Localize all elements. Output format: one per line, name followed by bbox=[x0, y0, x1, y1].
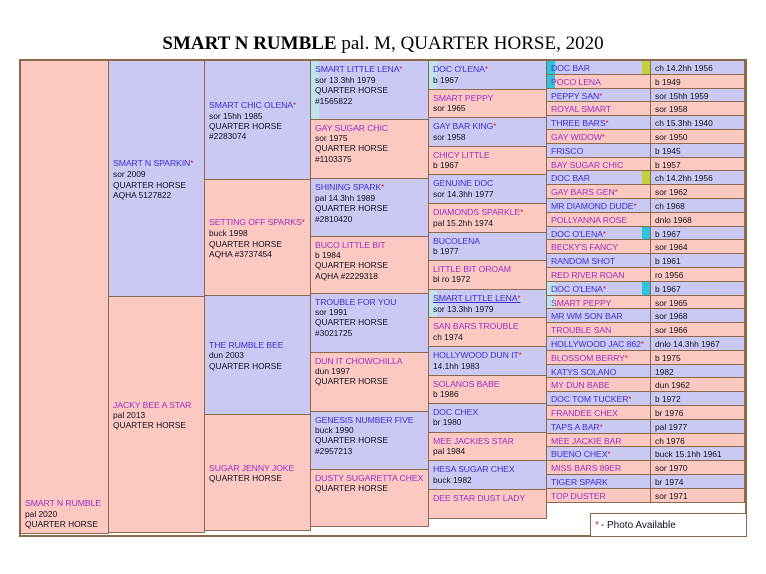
pedigree-cell: MR DIAMOND DUDE* bbox=[546, 198, 651, 213]
pedigree-cell: RED RIVER ROAN bbox=[546, 267, 651, 282]
cell-content: SMART CHIC OLENA*sor 15hh 1985QUARTER HO… bbox=[209, 100, 308, 142]
pedigree-cell-subject: SMART N RUMBLEpal 2020QUARTER HORSE bbox=[20, 60, 109, 534]
cell-content: BECKY'S FANCY bbox=[551, 241, 648, 253]
pedigree-cell: TAPS A BAR* bbox=[546, 419, 651, 434]
pedigree-date-cell: ch 1976 bbox=[650, 433, 745, 448]
generation-6-column: DOC BARPOCO LENAPEPPY SAN*ROYAL SMARTTHR… bbox=[547, 61, 651, 535]
horse-name: ROYAL SMART bbox=[551, 103, 648, 115]
pedigree-date-cell: b 1961 bbox=[650, 253, 745, 268]
horse-name: TOP DUSTER bbox=[551, 490, 648, 502]
horse-name: DUN IT CHOWCHILLA bbox=[315, 356, 426, 366]
cell-content: DOC CHEXbr 1980 bbox=[433, 407, 544, 427]
horse-birth-detail: buck 15.1hh 1961 bbox=[655, 448, 742, 460]
pedigree-date-cell: ch 14.2hh 1956 bbox=[650, 170, 745, 185]
horse-name: BECKY'S FANCY bbox=[551, 241, 648, 253]
horse-name: HESA SUGAR CHEX bbox=[433, 464, 544, 474]
pedigree-date-cell: ch 15.3hh 1940 bbox=[650, 115, 745, 130]
pedigree-cell: GAY WIDOW* bbox=[546, 129, 651, 144]
photo-available-star-icon: * bbox=[625, 354, 628, 363]
pedigree-cell: TROUBLE SAN bbox=[546, 322, 651, 337]
horse-birth-detail: ro 1956 bbox=[655, 269, 742, 281]
pedigree-date-cell: ro 1956 bbox=[650, 267, 745, 282]
horse-detail: AQHA #3737454 bbox=[209, 249, 308, 259]
horse-detail: QUARTER HORSE bbox=[315, 483, 426, 493]
cell-content: MEE JACKIE BAR bbox=[551, 435, 648, 447]
cell-content: HOLLYWOOD DUN IT*14.1hh 1983 bbox=[433, 350, 544, 371]
horse-birth-detail: sor 1964 bbox=[655, 241, 742, 253]
pedigree-cell: GAY BAR KING*sor 1958 bbox=[428, 117, 547, 147]
pedigree-cell: BLOSSOM BERRY* bbox=[546, 350, 651, 365]
horse-birth-detail: b 1949 bbox=[655, 76, 742, 88]
horse-name: SOLANOS BABE bbox=[433, 379, 544, 389]
cell-content: SAN BARS TROUBLEch 1974 bbox=[433, 321, 544, 341]
horse-name: GAY BAR KING* bbox=[433, 121, 544, 132]
horse-name: SMART CHIC OLENA* bbox=[209, 100, 308, 111]
horse-name: TROUBLE SAN bbox=[551, 324, 648, 336]
pedigree-date-cell: b 1967 bbox=[650, 226, 745, 241]
cell-content: DOC O'LENA*b 1967 bbox=[433, 64, 544, 85]
horse-name: DOC O'LENA* bbox=[433, 64, 544, 75]
cell-content: BUCO LITTLE BITb 1984QUARTER HORSEAQHA #… bbox=[315, 240, 426, 281]
photo-available-star-icon: * bbox=[633, 202, 636, 211]
horse-name: MISS BARS 89ER bbox=[551, 462, 648, 474]
horse-detail: 14.1hh 1983 bbox=[433, 361, 544, 371]
pedigree-cell: SMART N SPARKIN*sor 2009QUARTER HORSEAQH… bbox=[108, 60, 205, 297]
pedigree-cell: GENUINE DOCsor 14.3hh 1977 bbox=[428, 174, 547, 204]
pedigree-cell: GENESIS NUMBER FIVEbuck 1990QUARTER HORS… bbox=[310, 411, 429, 470]
pedigree-date-cell: sor 1968 bbox=[650, 308, 745, 323]
cell-content: DUN IT CHOWCHILLAdun 1997QUARTER HORSE bbox=[315, 356, 426, 387]
page-title: SMART N RUMBLE pal. M, QUARTER HORSE, 20… bbox=[0, 33, 766, 55]
horse-birth-detail: b 1957 bbox=[655, 159, 742, 171]
pedigree-date-cell: sor 1971 bbox=[650, 488, 745, 503]
horse-name[interactable]: SMART LITTLE LENA* bbox=[433, 293, 544, 304]
horse-detail: AQHA 5127822 bbox=[113, 190, 202, 200]
horse-detail: QUARTER HORSE bbox=[315, 260, 426, 270]
cell-content: TROUBLE SAN bbox=[551, 324, 648, 336]
photo-available-star-icon: * bbox=[302, 218, 305, 227]
horse-detail: QUARTER HORSE bbox=[315, 203, 426, 213]
horse-birth-detail: dnlo 1968 bbox=[655, 214, 742, 226]
pedigree-date-cell: buck 15.1hh 1961 bbox=[650, 446, 745, 461]
horse-name: POCO LENA bbox=[551, 76, 648, 88]
pedigree-date-cell: ch 14.2hh 1956 bbox=[650, 60, 745, 75]
horse-name: DOC BAR bbox=[551, 172, 648, 184]
horse-detail: #2957213 bbox=[315, 446, 426, 456]
pedigree-cell: DOC CHEXbr 1980 bbox=[428, 403, 547, 433]
horse-detail: QUARTER HORSE bbox=[209, 473, 308, 483]
horse-name: SMART PEPPY bbox=[433, 93, 544, 103]
pedigree-date-cell: sor 1966 bbox=[650, 322, 745, 337]
marker-strip-cyan bbox=[642, 227, 650, 240]
horse-name: JACKY BEE A STAR bbox=[113, 400, 202, 410]
horse-detail: buck 1990 bbox=[315, 425, 426, 435]
horse-detail: QUARTER HORSE bbox=[113, 180, 202, 190]
photo-available-star-icon: * bbox=[603, 230, 606, 239]
legend-text: - Photo Available bbox=[601, 520, 676, 531]
horse-detail: buck 1982 bbox=[433, 475, 544, 485]
horse-birth-detail: b 1967 bbox=[655, 228, 742, 240]
horse-birth-detail: sor 15hh 1959 bbox=[655, 90, 742, 102]
pedigree-cell: SMART PEPPY bbox=[546, 295, 651, 310]
cell-content: BAY SUGAR CHIC bbox=[551, 159, 648, 171]
pedigree-cell: DOC BAR bbox=[546, 170, 651, 185]
cell-content: JACKY BEE A STARpal 2013QUARTER HORSE bbox=[113, 400, 202, 431]
pedigree-cell: DOC O'LENA*b 1967 bbox=[428, 60, 547, 90]
generation-2-column: SMART N SPARKIN*sor 2009QUARTER HORSEAQH… bbox=[109, 61, 205, 535]
horse-name: SMART LITTLE LENA* bbox=[315, 64, 426, 75]
horse-name: BUCOLENA bbox=[433, 236, 544, 246]
horse-name: MEE JACKIE BAR bbox=[551, 435, 648, 447]
pedigree-cell: DOC O'LENA* bbox=[546, 226, 651, 241]
pedigree-cell: SMART CHIC OLENA*sor 15hh 1985QUARTER HO… bbox=[204, 60, 311, 180]
horse-detail: #3021725 bbox=[315, 328, 426, 338]
cell-content: KATYS SOLANO bbox=[551, 366, 648, 378]
horse-detail: dun 2003 bbox=[209, 350, 308, 360]
pedigree-cell: BUCO LITTLE BITb 1984QUARTER HORSEAQHA #… bbox=[310, 236, 429, 294]
horse-birth-detail: b 1975 bbox=[655, 352, 742, 364]
cell-content: DIAMONDS SPARKLE*pal 15.2hh 1974 bbox=[433, 207, 544, 228]
pedigree-cell: GAY BARS GEN* bbox=[546, 184, 651, 199]
pedigree-cell: BECKY'S FANCY bbox=[546, 239, 651, 254]
horse-detail: br 1980 bbox=[433, 417, 544, 427]
cell-content: RED RIVER ROAN bbox=[551, 269, 648, 281]
generation-4-column: SMART LITTLE LENA*sor 13.3hh 1979QUARTER… bbox=[311, 61, 429, 535]
horse-detail: QUARTER HORSE bbox=[315, 376, 426, 386]
pedigree-cell: BUENO CHEX* bbox=[546, 446, 651, 461]
cell-content: SMART PEPPYsor 1965 bbox=[433, 93, 544, 113]
cell-content: RANDOM SHOT bbox=[551, 255, 648, 267]
pedigree-date-cell: dnlo 1968 bbox=[650, 212, 745, 227]
pedigree-date-cell: sor 1964 bbox=[650, 239, 745, 254]
horse-name: TROUBLE FOR YOU bbox=[315, 297, 426, 307]
photo-available-star-icon: * bbox=[520, 208, 523, 217]
pedigree-cell: POLLYANNA ROSE bbox=[546, 212, 651, 227]
horse-name: SMART PEPPY bbox=[551, 297, 648, 309]
horse-name: LITTLE BIT OROAM bbox=[433, 264, 544, 274]
pedigree-cell: SMART LITTLE LENA*sor 13.3hh 1979 bbox=[428, 289, 547, 319]
pedigree-date-cell: dun 1962 bbox=[650, 377, 745, 392]
horse-birth-detail: sor 1970 bbox=[655, 462, 742, 474]
pedigree-cell: SMART LITTLE LENA*sor 13.3hh 1979QUARTER… bbox=[310, 60, 429, 120]
horse-detail: #1103375 bbox=[315, 154, 426, 164]
horse-detail: QUARTER HORSE bbox=[315, 85, 426, 95]
pedigree-cell: RANDOM SHOT bbox=[546, 253, 651, 268]
pedigree-date-cell: pal 1977 bbox=[650, 419, 745, 434]
horse-birth-detail: sor 1962 bbox=[655, 186, 742, 198]
horse-detail: sor 1975 bbox=[315, 133, 426, 143]
pedigree-date-cell: b 1957 bbox=[650, 157, 745, 172]
cell-content: SMART LITTLE LENA*sor 13.3hh 1979QUARTER… bbox=[315, 64, 426, 106]
horse-detail: ch 1974 bbox=[433, 332, 544, 342]
horse-detail: sor 13.3hh 1979 bbox=[433, 304, 544, 314]
cell-content: SOLANOS BABEb 1986 bbox=[433, 379, 544, 399]
horse-detail: b 1986 bbox=[433, 389, 544, 399]
pedigree-cell: DIAMONDS SPARKLE*pal 15.2hh 1974 bbox=[428, 203, 547, 233]
horse-birth-detail: sor 1958 bbox=[655, 103, 742, 115]
pedigree-cell: SMART PEPPYsor 1965 bbox=[428, 89, 547, 119]
horse-birth-detail: ch 14.2hh 1956 bbox=[655, 172, 742, 184]
photo-available-star-icon: * bbox=[381, 183, 384, 192]
horse-detail: #1565822 bbox=[315, 96, 426, 106]
generation-5-column: DOC O'LENA*b 1967SMART PEPPYsor 1965GAY … bbox=[429, 61, 547, 535]
cell-content: LITTLE BIT OROAMbl ro 1972 bbox=[433, 264, 544, 284]
photo-available-star-icon: * bbox=[606, 119, 609, 128]
horse-detail: QUARTER HORSE bbox=[209, 361, 308, 371]
horse-detail: QUARTER HORSE bbox=[209, 239, 308, 249]
pedigree-page: SMART N RUMBLE pal. M, QUARTER HORSE, 20… bbox=[0, 0, 766, 574]
horse-name: BAY SUGAR CHIC bbox=[551, 159, 648, 171]
pedigree-cell: MR WM SON BAR bbox=[546, 308, 651, 323]
pedigree-date-cell: br 1976 bbox=[650, 405, 745, 420]
pedigree-cell: FRANDEE CHEX bbox=[546, 405, 651, 420]
horse-name: HOLLYWOOD DUN IT* bbox=[433, 350, 544, 361]
horse-detail: sor 1965 bbox=[433, 103, 544, 113]
cell-content: GENUINE DOCsor 14.3hh 1977 bbox=[433, 178, 544, 198]
cell-content: SETTING OFF SPARKS*buck 1998QUARTER HORS… bbox=[209, 217, 308, 259]
pedigree-date-cell: 1982 bbox=[650, 364, 745, 379]
cell-content: DEE STAR DUST LADY bbox=[433, 493, 544, 503]
pedigree-cell: TOP DUSTER bbox=[546, 488, 651, 503]
horse-detail: bl ro 1972 bbox=[433, 274, 544, 284]
horse-name: THE RUMBLE BEE bbox=[209, 340, 308, 350]
pedigree-date-cell: sor 1965 bbox=[650, 295, 745, 310]
horse-name: SMART N SPARKIN* bbox=[113, 158, 202, 169]
pedigree-date-cell: sor 15hh 1959 bbox=[650, 88, 745, 103]
horse-detail: sor 15hh 1985 bbox=[209, 111, 308, 121]
horse-detail: QUARTER HORSE bbox=[209, 121, 308, 131]
horse-detail: sor 1991 bbox=[315, 307, 426, 317]
horse-name: MR WM SON BAR bbox=[551, 310, 648, 322]
legend-star-icon: * bbox=[595, 520, 599, 531]
cell-content: MEE JACKIES STARpal 1984 bbox=[433, 436, 544, 456]
legend-row: * - Photo Available bbox=[19, 513, 747, 537]
cell-content: MY DUN BABE bbox=[551, 379, 648, 391]
horse-name: SUGAR JENNY JOKE bbox=[209, 463, 308, 473]
photo-available-legend: * - Photo Available bbox=[590, 513, 747, 537]
horse-detail: AQHA #2229318 bbox=[315, 271, 426, 281]
horse-name: SETTING OFF SPARKS* bbox=[209, 217, 308, 228]
cell-content: FRISCO bbox=[551, 145, 648, 157]
cell-content: SUGAR JENNY JOKEQUARTER HORSE bbox=[209, 463, 308, 483]
cell-content: CHICY LITTLEb 1967 bbox=[433, 150, 544, 170]
horse-name: FRANDEE CHEX bbox=[551, 407, 648, 419]
horse-detail: sor 13.3hh 1979 bbox=[315, 75, 426, 85]
cell-content: DOC BAR bbox=[551, 62, 648, 74]
pedigree-cell: SAN BARS TROUBLEch 1974 bbox=[428, 317, 547, 347]
horse-detail: QUARTER HORSE bbox=[315, 143, 426, 153]
photo-available-star-icon: * bbox=[628, 395, 631, 404]
horse-detail: buck 1998 bbox=[209, 228, 308, 238]
pedigree-date-cell: dnlo 14.3hh 1967 bbox=[650, 336, 745, 351]
horse-birth-detail: dun 1962 bbox=[655, 379, 742, 391]
horse-name: DIAMONDS SPARKLE* bbox=[433, 207, 544, 218]
pedigree-date-cell: b 1967 bbox=[650, 281, 745, 296]
pedigree-cell: SHINING SPARK*pal 14.3hh 1989QUARTER HOR… bbox=[310, 178, 429, 237]
marker-strip-cyan bbox=[642, 282, 650, 295]
pedigree-date-cell: sor 1962 bbox=[650, 184, 745, 199]
horse-birth-detail: ch 1968 bbox=[655, 200, 742, 212]
horse-birth-detail: sor 1966 bbox=[655, 324, 742, 336]
horse-birth-detail: sor 1971 bbox=[655, 490, 742, 502]
cell-content: GENESIS NUMBER FIVEbuck 1990QUARTER HORS… bbox=[315, 415, 426, 456]
pedigree-cell: THREE BARS* bbox=[546, 115, 651, 130]
horse-name: RANDOM SHOT bbox=[551, 255, 648, 267]
horse-birth-detail: b 1967 bbox=[655, 283, 742, 295]
horse-birth-detail: pal 1977 bbox=[655, 421, 742, 433]
horse-birth-detail: dnlo 14.3hh 1967 bbox=[655, 338, 742, 350]
cell-content: TIGER SPARK bbox=[551, 476, 648, 488]
horse-detail: pal 1984 bbox=[433, 446, 544, 456]
horse-name: RED RIVER ROAN bbox=[551, 269, 648, 281]
cell-content: FRANDEE CHEX bbox=[551, 407, 648, 419]
page-title-name: SMART N RUMBLE bbox=[162, 33, 336, 54]
cell-content: BUCOLENAb 1977 bbox=[433, 236, 544, 256]
horse-detail: pal 2013 bbox=[113, 410, 202, 420]
horse-name: SAN BARS TROUBLE bbox=[433, 321, 544, 331]
photo-available-star-icon: * bbox=[602, 133, 605, 142]
horse-detail: b 1967 bbox=[433, 75, 544, 85]
pedigree-cell: CHICY LITTLEb 1967 bbox=[428, 146, 547, 176]
horse-detail: b 1967 bbox=[433, 160, 544, 170]
horse-birth-detail: 1982 bbox=[655, 366, 742, 378]
pedigree-date-cell: sor 1950 bbox=[650, 129, 745, 144]
pedigree-cell: FRISCO bbox=[546, 143, 651, 158]
pedigree-date-cell: b 1945 bbox=[650, 143, 745, 158]
marker-strip-olive bbox=[642, 61, 650, 74]
horse-name: DEE STAR DUST LADY bbox=[433, 493, 544, 503]
pedigree-cell: MISS BARS 89ER bbox=[546, 460, 651, 475]
cell-content: POCO LENA bbox=[551, 76, 648, 88]
horse-name: GENESIS NUMBER FIVE bbox=[315, 415, 426, 425]
horse-birth-detail: b 1961 bbox=[655, 255, 742, 267]
horse-name: DOC BAR bbox=[551, 62, 648, 74]
cell-content: POLLYANNA ROSE bbox=[551, 214, 648, 226]
cell-content: MISS BARS 89ER bbox=[551, 462, 648, 474]
photo-available-star-icon: * bbox=[293, 101, 296, 110]
pedigree-cell: MEE JACKIE BAR bbox=[546, 433, 651, 448]
cell-content: GAY SUGAR CHICsor 1975QUARTER HORSE#1103… bbox=[315, 123, 426, 164]
marker-strip-olive bbox=[642, 171, 650, 184]
horse-detail: QUARTER HORSE bbox=[315, 435, 426, 445]
horse-name: GAY SUGAR CHIC bbox=[315, 123, 426, 133]
photo-available-star-icon: * bbox=[399, 65, 402, 74]
cell-content: THE RUMBLE BEEdun 2003QUARTER HORSE bbox=[209, 340, 308, 371]
photo-available-star-icon: * bbox=[603, 285, 606, 294]
pedigree-cell: MEE JACKIES STARpal 1984 bbox=[428, 432, 547, 462]
cell-content: ROYAL SMART bbox=[551, 103, 648, 115]
photo-available-star-icon: * bbox=[493, 122, 496, 131]
cell-content: GAY BAR KING*sor 1958 bbox=[433, 121, 544, 142]
cell-content: TOP DUSTER bbox=[551, 490, 648, 502]
pedigree-date-cell: b 1975 bbox=[650, 350, 745, 365]
horse-name: POLLYANNA ROSE bbox=[551, 214, 648, 226]
photo-available-star-icon: * bbox=[615, 188, 618, 197]
pedigree-cell: DOC O'LENA* bbox=[546, 281, 651, 296]
horse-name: SHINING SPARK* bbox=[315, 182, 426, 193]
horse-name: FRISCO bbox=[551, 145, 648, 157]
horse-detail: QUARTER HORSE bbox=[113, 420, 202, 430]
pedigree-cell: MY DUN BABE bbox=[546, 377, 651, 392]
horse-name: GENUINE DOC bbox=[433, 178, 544, 188]
generation-1-column: SMART N RUMBLEpal 2020QUARTER HORSE bbox=[21, 61, 109, 535]
photo-available-star-icon: * bbox=[607, 450, 610, 459]
pedigree-cell: DOC BAR bbox=[546, 60, 651, 75]
cell-content: SMART N SPARKIN*sor 2009QUARTER HORSEAQH… bbox=[113, 158, 202, 200]
generation-6-dates-column: ch 14.2hh 1956b 1949sor 15hh 1959sor 195… bbox=[651, 61, 745, 535]
horse-birth-detail: br 1974 bbox=[655, 476, 742, 488]
horse-detail: #2810420 bbox=[315, 214, 426, 224]
generation-3-column: SMART CHIC OLENA*sor 15hh 1985QUARTER HO… bbox=[205, 61, 311, 535]
horse-name: BUCO LITTLE BIT bbox=[315, 240, 426, 250]
cell-content: DUSTY SUGARETTA CHEXQUARTER HORSE bbox=[315, 473, 426, 493]
photo-available-star-icon: * bbox=[485, 65, 488, 74]
horse-name: DUSTY SUGARETTA CHEX bbox=[315, 473, 426, 483]
pedigree-cell: BAY SUGAR CHIC bbox=[546, 157, 651, 172]
pedigree-cell: DUN IT CHOWCHILLAdun 1997QUARTER HORSE bbox=[310, 352, 429, 412]
photo-available-star-icon: * bbox=[517, 294, 520, 303]
pedigree-cell: KATYS SOLANO bbox=[546, 364, 651, 379]
pedigree-cell: DOC TOM TUCKER* bbox=[546, 391, 651, 406]
horse-name: SMART N RUMBLE bbox=[25, 498, 106, 508]
pedigree-cell: SETTING OFF SPARKS*buck 1998QUARTER HORS… bbox=[204, 179, 311, 296]
cell-content: SMART LITTLE LENA*sor 13.3hh 1979 bbox=[433, 293, 544, 314]
pedigree-date-cell: br 1974 bbox=[650, 474, 745, 489]
horse-birth-detail: sor 1968 bbox=[655, 310, 742, 322]
pedigree-cell: THE RUMBLE BEEdun 2003QUARTER HORSE bbox=[204, 295, 311, 415]
horse-detail: b 1977 bbox=[433, 246, 544, 256]
photo-available-star-icon: * bbox=[190, 159, 193, 168]
cell-content: SHINING SPARK*pal 14.3hh 1989QUARTER HOR… bbox=[315, 182, 426, 224]
pedigree-date-cell: b 1949 bbox=[650, 74, 745, 89]
horse-name: DOC CHEX bbox=[433, 407, 544, 417]
pedigree-cell: PEPPY SAN* bbox=[546, 88, 651, 103]
horse-name: TIGER SPARK bbox=[551, 476, 648, 488]
pedigree-date-cell: sor 1970 bbox=[650, 460, 745, 475]
horse-detail: pal 15.2hh 1974 bbox=[433, 218, 544, 228]
horse-name: KATYS SOLANO bbox=[551, 366, 648, 378]
pedigree-cell: POCO LENA bbox=[546, 74, 651, 89]
horse-detail: pal 14.3hh 1989 bbox=[315, 193, 426, 203]
horse-name: MY DUN BABE bbox=[551, 379, 648, 391]
pedigree-cell: LITTLE BIT OROAMbl ro 1972 bbox=[428, 260, 547, 290]
pedigree-cell: GAY SUGAR CHICsor 1975QUARTER HORSE#1103… bbox=[310, 119, 429, 179]
cell-content: HESA SUGAR CHEXbuck 1982 bbox=[433, 464, 544, 484]
horse-name: CHICY LITTLE bbox=[433, 150, 544, 160]
horse-birth-detail: ch 1976 bbox=[655, 435, 742, 447]
photo-available-star-icon: * bbox=[599, 92, 602, 101]
photo-available-star-icon: * bbox=[641, 340, 644, 349]
horse-detail: sor 14.3hh 1977 bbox=[433, 189, 544, 199]
photo-available-star-icon: * bbox=[600, 423, 603, 432]
horse-detail: #2283074 bbox=[209, 131, 308, 141]
horse-birth-detail: sor 1965 bbox=[655, 297, 742, 309]
cell-content: MR WM SON BAR bbox=[551, 310, 648, 322]
horse-name: MEE JACKIES STAR bbox=[433, 436, 544, 446]
pedigree-cell: ROYAL SMART bbox=[546, 101, 651, 116]
pedigree-chart: SMART N RUMBLEpal 2020QUARTER HORSE SMAR… bbox=[19, 59, 747, 537]
horse-birth-detail: sor 1950 bbox=[655, 131, 742, 143]
horse-detail: dun 1997 bbox=[315, 366, 426, 376]
pedigree-cell: JACKY BEE A STARpal 2013QUARTER HORSE bbox=[108, 296, 205, 533]
cell-content: TROUBLE FOR YOUsor 1991QUARTER HORSE#302… bbox=[315, 297, 426, 338]
horse-detail: sor 2009 bbox=[113, 169, 202, 179]
horse-birth-detail: ch 14.2hh 1956 bbox=[655, 62, 742, 74]
cell-content: SMART PEPPY bbox=[551, 297, 648, 309]
horse-birth-detail: ch 15.3hh 1940 bbox=[655, 117, 742, 129]
cell-content: DOC BAR bbox=[551, 172, 648, 184]
pedigree-cell: HESA SUGAR CHEXbuck 1982 bbox=[428, 460, 547, 490]
